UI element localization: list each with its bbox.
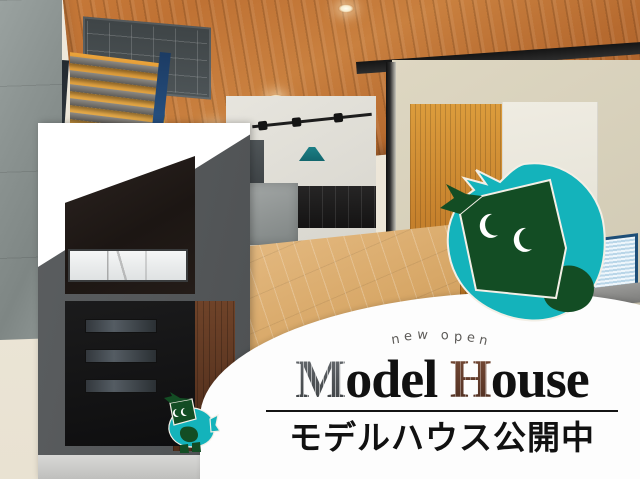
mascot-leg-left — [180, 444, 189, 453]
eyebrow-letter: w — [417, 327, 434, 343]
mascot-leg-right — [192, 442, 201, 452]
title-divider-rule — [266, 410, 618, 412]
title-english: Model House — [262, 354, 622, 404]
eyebrow-new-open: new open — [262, 330, 622, 352]
title-segment-ouse: ouse — [491, 349, 589, 409]
kitchen-cabinetry — [296, 186, 376, 228]
title-letter-m: M — [295, 349, 345, 409]
house-mascot-large — [424, 162, 614, 324]
downlight-icon — [338, 4, 354, 13]
house-mascot-small — [158, 391, 220, 455]
title-letter-h: H — [450, 349, 491, 409]
eyebrow-letter: p — [453, 330, 467, 345]
eyebrow-letter: o — [440, 327, 455, 343]
banner-text-block: new open Model House モデルハウス公開中 — [262, 330, 622, 457]
eyebrow-letter: n — [478, 333, 494, 351]
model-house-promo-banner: new open Model House モデルハウス公開中 — [0, 0, 640, 479]
title-segment-odel: odel — [345, 349, 450, 409]
title-japanese: モデルハウス公開中 — [262, 419, 622, 457]
white-framed-window — [68, 249, 188, 282]
eyebrow-letter: e — [403, 329, 417, 345]
